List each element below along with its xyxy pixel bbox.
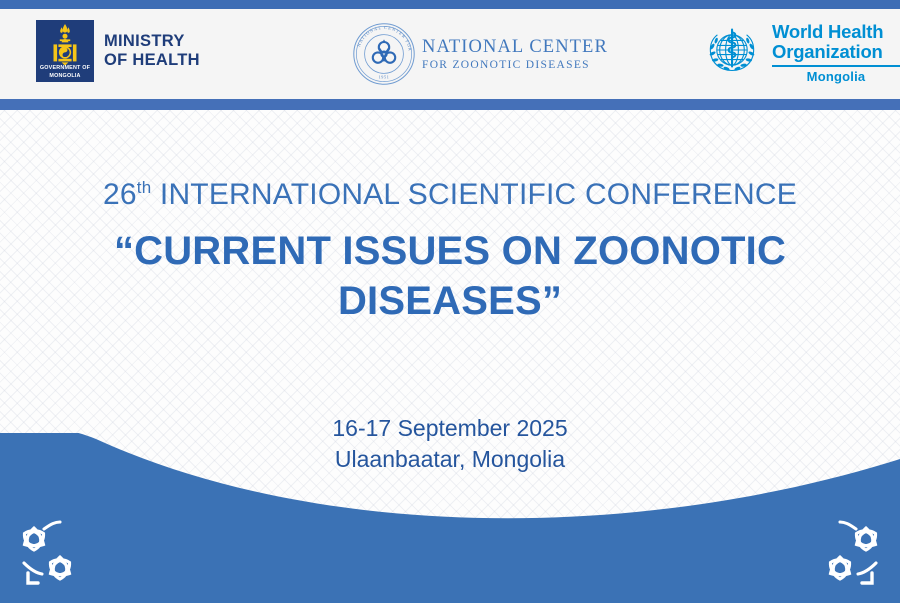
wave-blue-layer <box>0 433 900 603</box>
who-emblem-icon <box>700 23 764 83</box>
conference-number: 26 <box>103 178 137 211</box>
triquetra-knot-ornament-right <box>806 519 886 593</box>
who-title-line1: World Health <box>772 22 900 42</box>
who-label: World Health Organization Mongolia <box>772 22 900 84</box>
national-center-logo: NATIONAL CENTER FOR ZOONOTIC DISEASES 19… <box>352 22 608 86</box>
ministry-of-health-logo: GOVERNMENT OF MONGOLIA MINISTRY OF HEALT… <box>36 20 200 82</box>
svg-text:NATIONAL CENTER FOR ZOONOTIC D: NATIONAL CENTER FOR ZOONOTIC DISEASES <box>352 22 413 54</box>
emblem-country-line: MONGOLIA <box>36 73 94 79</box>
soyombo-emblem: GOVERNMENT OF MONGOLIA <box>36 20 94 82</box>
headline-block: 26th INTERNATIONAL SCIENTIFIC CONFERENCE… <box>0 176 900 326</box>
who-logo: World Health Organization Mongolia <box>700 22 900 84</box>
conference-heading: 26th INTERNATIONAL SCIENTIFIC CONFERENCE <box>0 176 900 214</box>
ministry-label-line2: OF HEALTH <box>104 51 200 70</box>
conference-theme: “CURRENT ISSUES ON ZOONOTIC DISEASES” <box>0 226 900 326</box>
conference-ordinal: th <box>137 178 152 197</box>
top-accent-rule <box>0 0 900 9</box>
biohazard-seal-icon: NATIONAL CENTER FOR ZOONOTIC DISEASES 19… <box>352 22 416 86</box>
conference-theme-line1: “CURRENT ISSUES ON ZOONOTIC <box>0 226 900 276</box>
conference-theme-line2: DISEASES” <box>0 276 900 326</box>
bottom-wave-decoration <box>0 433 900 603</box>
emblem-government-line: GOVERNMENT OF <box>36 65 94 71</box>
ministry-of-health-label: MINISTRY OF HEALTH <box>104 32 200 70</box>
triquetra-knot-ornament-left <box>14 519 94 593</box>
conference-title-slide: GOVERNMENT OF MONGOLIA MINISTRY OF HEALT… <box>0 0 900 603</box>
conference-heading-text: INTERNATIONAL SCIENTIFIC CONFERENCE <box>151 178 797 211</box>
who-country-label: Mongolia <box>772 69 900 84</box>
svg-text:1951: 1951 <box>379 75 390 80</box>
header-accent-rule <box>0 99 900 110</box>
who-title-line2: Organization <box>772 42 900 62</box>
national-center-title: NATIONAL CENTER <box>422 37 608 57</box>
ministry-label-line1: MINISTRY <box>104 32 200 51</box>
soyombo-emblem-glyph <box>36 22 94 66</box>
national-center-subtitle: FOR ZOONOTIC DISEASES <box>422 58 608 72</box>
who-divider <box>772 65 900 67</box>
national-center-label: NATIONAL CENTER FOR ZOONOTIC DISEASES <box>422 37 608 72</box>
